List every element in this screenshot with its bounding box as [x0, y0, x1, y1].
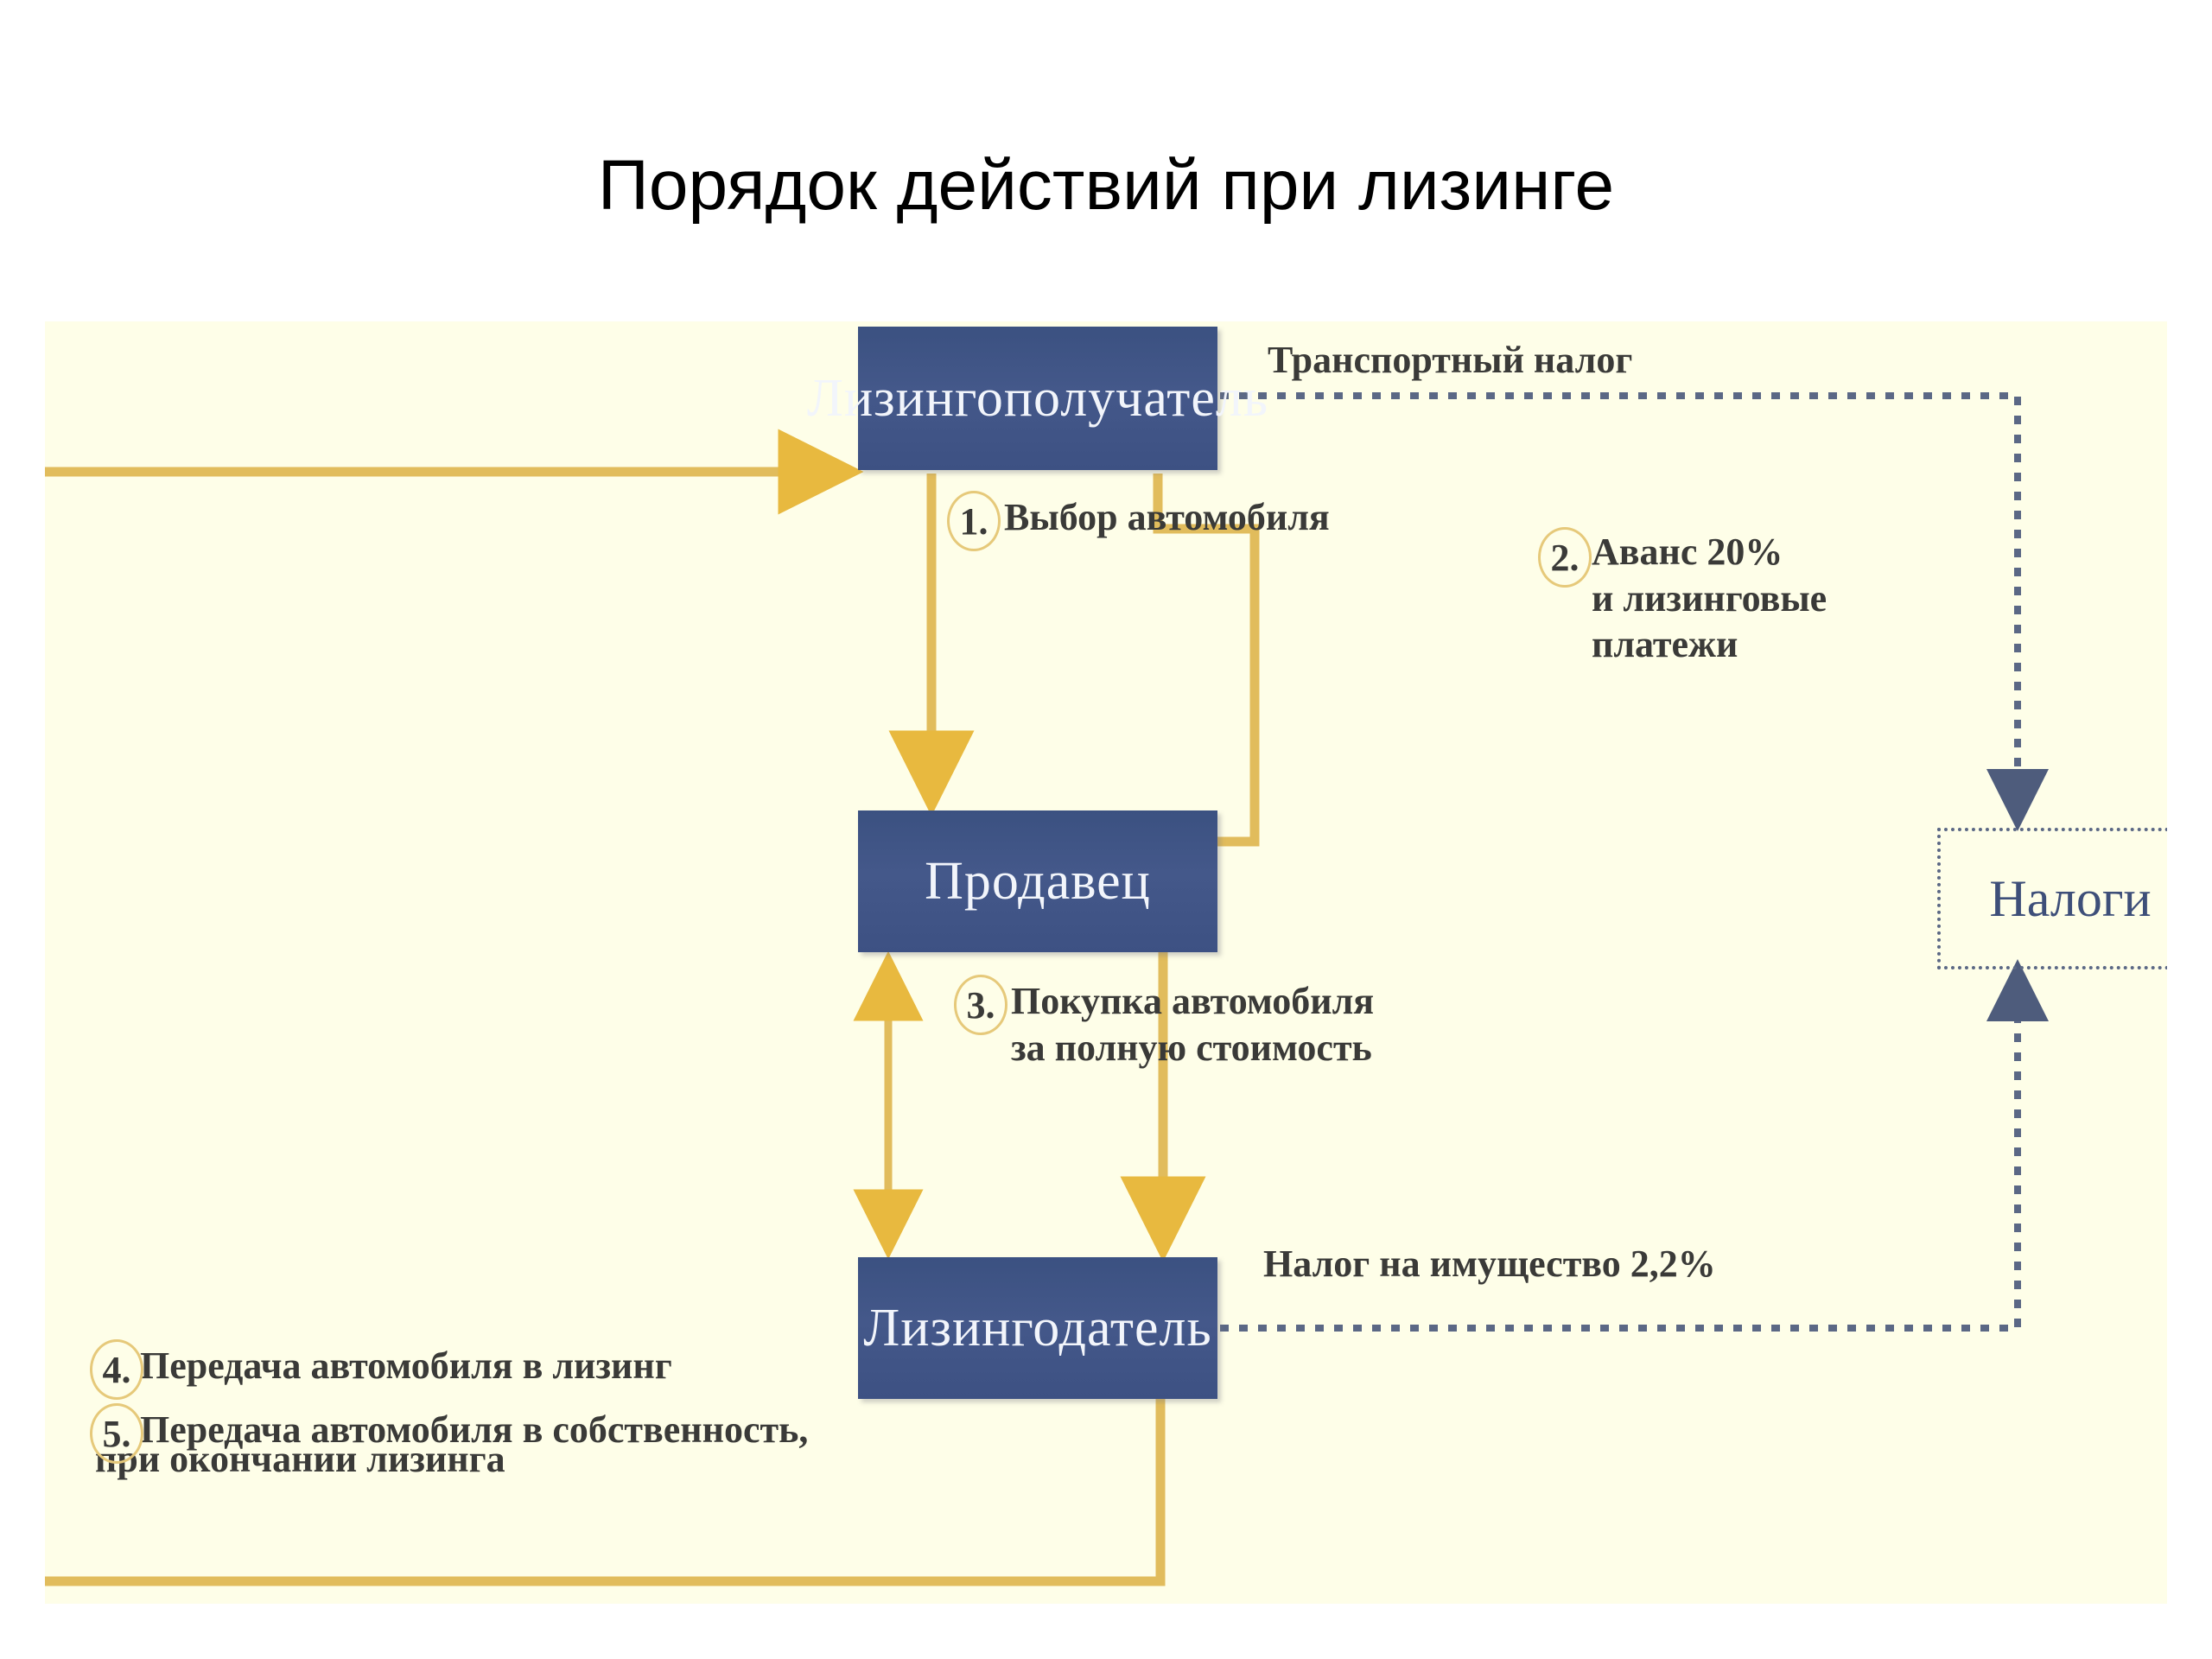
step-number-5: 5.: [90, 1403, 143, 1464]
node-taxes[interactable]: Налоги: [1937, 828, 2167, 969]
node-lessee-label: Лизингополучатель: [807, 368, 1268, 429]
label-step-5-continuation: при окончании лизинга: [95, 1436, 505, 1483]
step-number-3: 3.: [954, 975, 1007, 1035]
label-step-1: Выбор автомобиля: [1004, 494, 1330, 541]
node-lessor-label: Лизингодатель: [863, 1298, 1211, 1359]
label-transport-tax: Транспортный налог: [1268, 337, 1632, 384]
page-title: Порядок действий при лизинге: [0, 145, 2212, 226]
node-seller[interactable]: Продавец: [858, 810, 1217, 952]
node-lessor[interactable]: Лизингодатель: [858, 1257, 1217, 1399]
leasing-flow-diagram: Лизингополучатель Продавец Лизингодатель…: [45, 321, 2167, 1604]
step-number-2: 2.: [1538, 527, 1592, 588]
node-taxes-label: Налоги: [1989, 869, 2151, 929]
slide-canvas: Порядок действий при лизинге: [0, 0, 2212, 1659]
step-number-4: 4.: [90, 1339, 143, 1400]
label-property-tax: Налог на имущество 2,2%: [1263, 1241, 1716, 1287]
label-step-3: Покупка автомобиля за полную стоимость: [1011, 978, 1374, 1071]
node-seller-label: Продавец: [925, 851, 1151, 912]
label-step-4: Передача автомобиля в лизинг: [140, 1343, 672, 1389]
node-lessee[interactable]: Лизингополучатель: [858, 327, 1217, 470]
label-step-2: Аванс 20% и лизинговые платежи: [1592, 529, 1827, 668]
step-number-1: 1.: [947, 491, 1001, 551]
